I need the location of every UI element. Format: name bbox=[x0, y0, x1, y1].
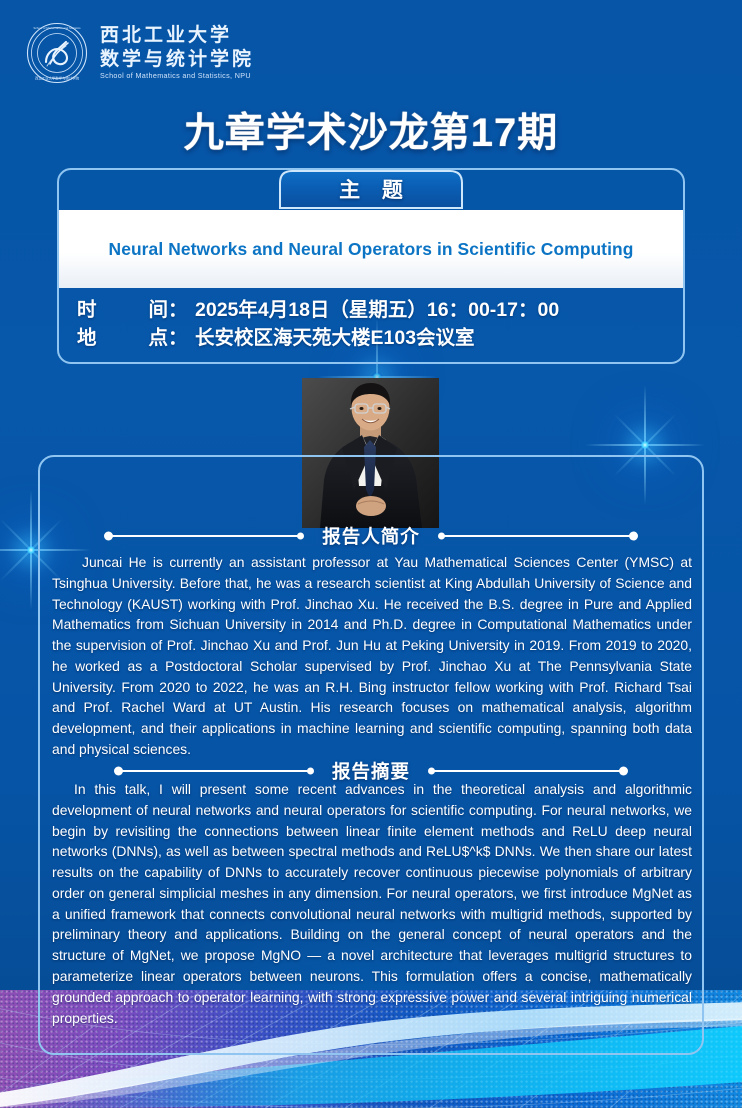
talk-title-band: Neural Networks and Neural Operators in … bbox=[59, 210, 683, 288]
info-card: 主 题 Neural Networks and Neural Operators… bbox=[57, 168, 685, 364]
section-rule-right bbox=[430, 770, 626, 772]
meta-key-location: 地点： bbox=[77, 324, 195, 352]
meta-time-char1: 时 bbox=[77, 299, 149, 321]
section-header-bio: 报告人简介 bbox=[38, 523, 704, 549]
meta-time-char2: 间 bbox=[149, 299, 169, 321]
topic-tab: 主 题 bbox=[278, 169, 464, 209]
logo-line-1: 西北工业大学 bbox=[100, 26, 254, 45]
topic-tab-label: 主 题 bbox=[278, 169, 464, 209]
lens-flare-left bbox=[26, 545, 36, 555]
page-title: 九章学术沙龙第17期 bbox=[0, 100, 742, 158]
seal-svg: School of Mathematics and Statistics 西北工… bbox=[26, 22, 88, 84]
logo-english: School of Mathematics and Statistics, NP… bbox=[100, 72, 254, 79]
meta-time-sep: ： bbox=[168, 299, 188, 321]
meta-row-time: 时间： 2025年4月18日（星期五）16：00-17：00 bbox=[77, 296, 683, 324]
lens-flare-right bbox=[640, 440, 650, 450]
speaker-photo bbox=[302, 378, 439, 528]
section-title-bio: 报告人简介 bbox=[302, 523, 440, 549]
event-meta: 时间： 2025年4月18日（星期五）16：00-17：00 地点： 长安校区海… bbox=[59, 288, 683, 362]
meta-value-time: 2025年4月18日（星期五）16：00-17：00 bbox=[195, 296, 559, 324]
university-logo: School of Mathematics and Statistics 西北工… bbox=[26, 22, 254, 84]
talk-title: Neural Networks and Neural Operators in … bbox=[99, 239, 644, 260]
npu-seal-icon: School of Mathematics and Statistics 西北工… bbox=[26, 22, 88, 84]
speaker-portrait-svg bbox=[302, 378, 439, 528]
meta-row-location: 地点： 长安校区海天苑大楼E103会议室 bbox=[77, 324, 683, 352]
svg-text:西北工业大学数学与统计学院: 西北工业大学数学与统计学院 bbox=[35, 76, 80, 81]
abstract-text: In this talk, I will present some recent… bbox=[52, 779, 692, 1028]
meta-loc-char1: 地 bbox=[77, 327, 149, 349]
meta-loc-sep: ： bbox=[168, 327, 188, 349]
section-rule-left bbox=[106, 535, 302, 537]
svg-text:School of Mathematics and Stat: School of Mathematics and Statistics bbox=[33, 26, 81, 30]
poster-canvas: School of Mathematics and Statistics 西北工… bbox=[0, 0, 742, 1108]
logo-line-2: 数学与统计学院 bbox=[100, 50, 254, 69]
section-rule-right bbox=[440, 535, 636, 537]
section-rule-left bbox=[116, 770, 312, 772]
speaker-bio-text: Juncai He is currently an assistant prof… bbox=[52, 552, 692, 760]
logo-wordmark: 西北工业大学 数学与统计学院 School of Mathematics and… bbox=[100, 26, 254, 79]
poster-header: School of Mathematics and Statistics 西北工… bbox=[0, 0, 742, 96]
meta-key-time: 时间： bbox=[77, 296, 195, 324]
meta-loc-char2: 点 bbox=[149, 327, 169, 349]
meta-value-location: 长安校区海天苑大楼E103会议室 bbox=[195, 324, 475, 352]
